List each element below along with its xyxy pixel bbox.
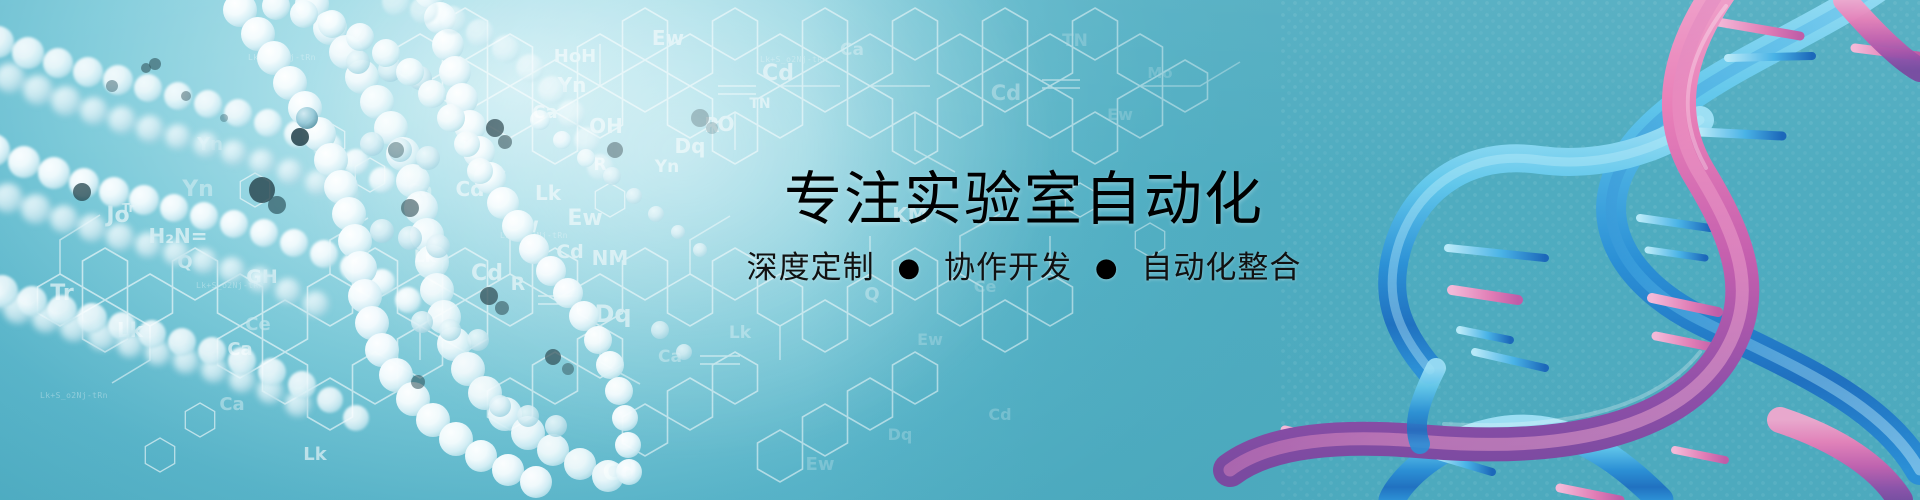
subtitle-segment-2: 协作开发 — [944, 251, 1072, 287]
subtitle-segment-3: 自动化整合 — [1141, 251, 1301, 287]
hero-banner: Tr Jo Tr H₂N= GH Q Lk Yn Yn Ca Lk Ca Cd … — [0, 0, 1920, 500]
bullet-separator-icon: ● — [1095, 255, 1119, 281]
page-title: 专注实验室自动化 — [744, 170, 1304, 229]
hero-text-block: 专注实验室自动化 深度定制 ● 协作开发 ● 自动化整合 — [744, 170, 1304, 287]
bullet-separator-icon: ● — [897, 255, 921, 281]
hero-subtitle: 深度定制 ● 协作开发 ● 自动化整合 — [744, 251, 1304, 287]
subtitle-segment-1: 深度定制 — [747, 251, 875, 287]
